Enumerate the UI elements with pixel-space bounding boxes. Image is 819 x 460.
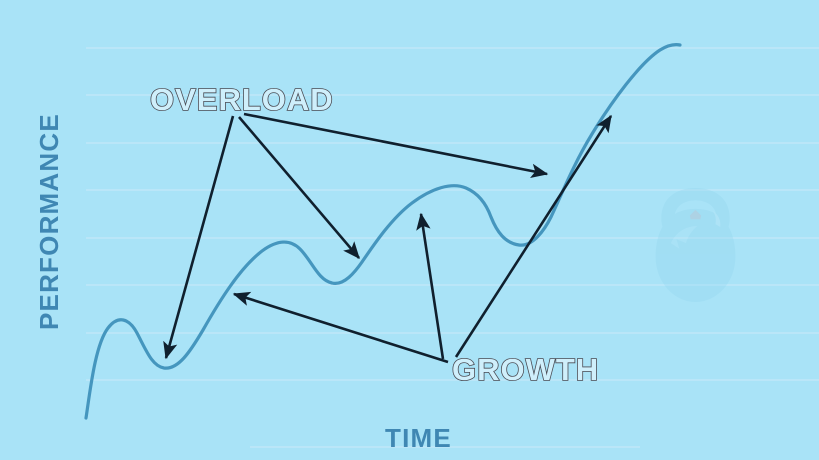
overload-arrow-trough-3 <box>244 114 547 174</box>
x-axis-label: TIME <box>385 423 452 453</box>
callout-overload: OVERLOAD <box>150 82 334 117</box>
growth-arrows <box>234 116 611 362</box>
chart-svg: PERFORMANCE TIME OVERLOAD GROWTH <box>0 0 819 460</box>
kettlebell-icon <box>656 188 736 302</box>
growth-arrow-rise-3 <box>456 116 611 357</box>
growth-arrow-rise-2 <box>421 214 443 359</box>
y-axis-label: PERFORMANCE <box>34 113 64 330</box>
overload-arrow-trough-2 <box>239 117 359 258</box>
chart-canvas: PERFORMANCE TIME OVERLOAD GROWTH <box>0 0 819 460</box>
overload-arrow-trough-1 <box>166 116 233 358</box>
growth-arrow-rise-1 <box>234 294 448 362</box>
callout-growth: GROWTH <box>452 352 599 387</box>
overload-arrows <box>166 114 547 358</box>
